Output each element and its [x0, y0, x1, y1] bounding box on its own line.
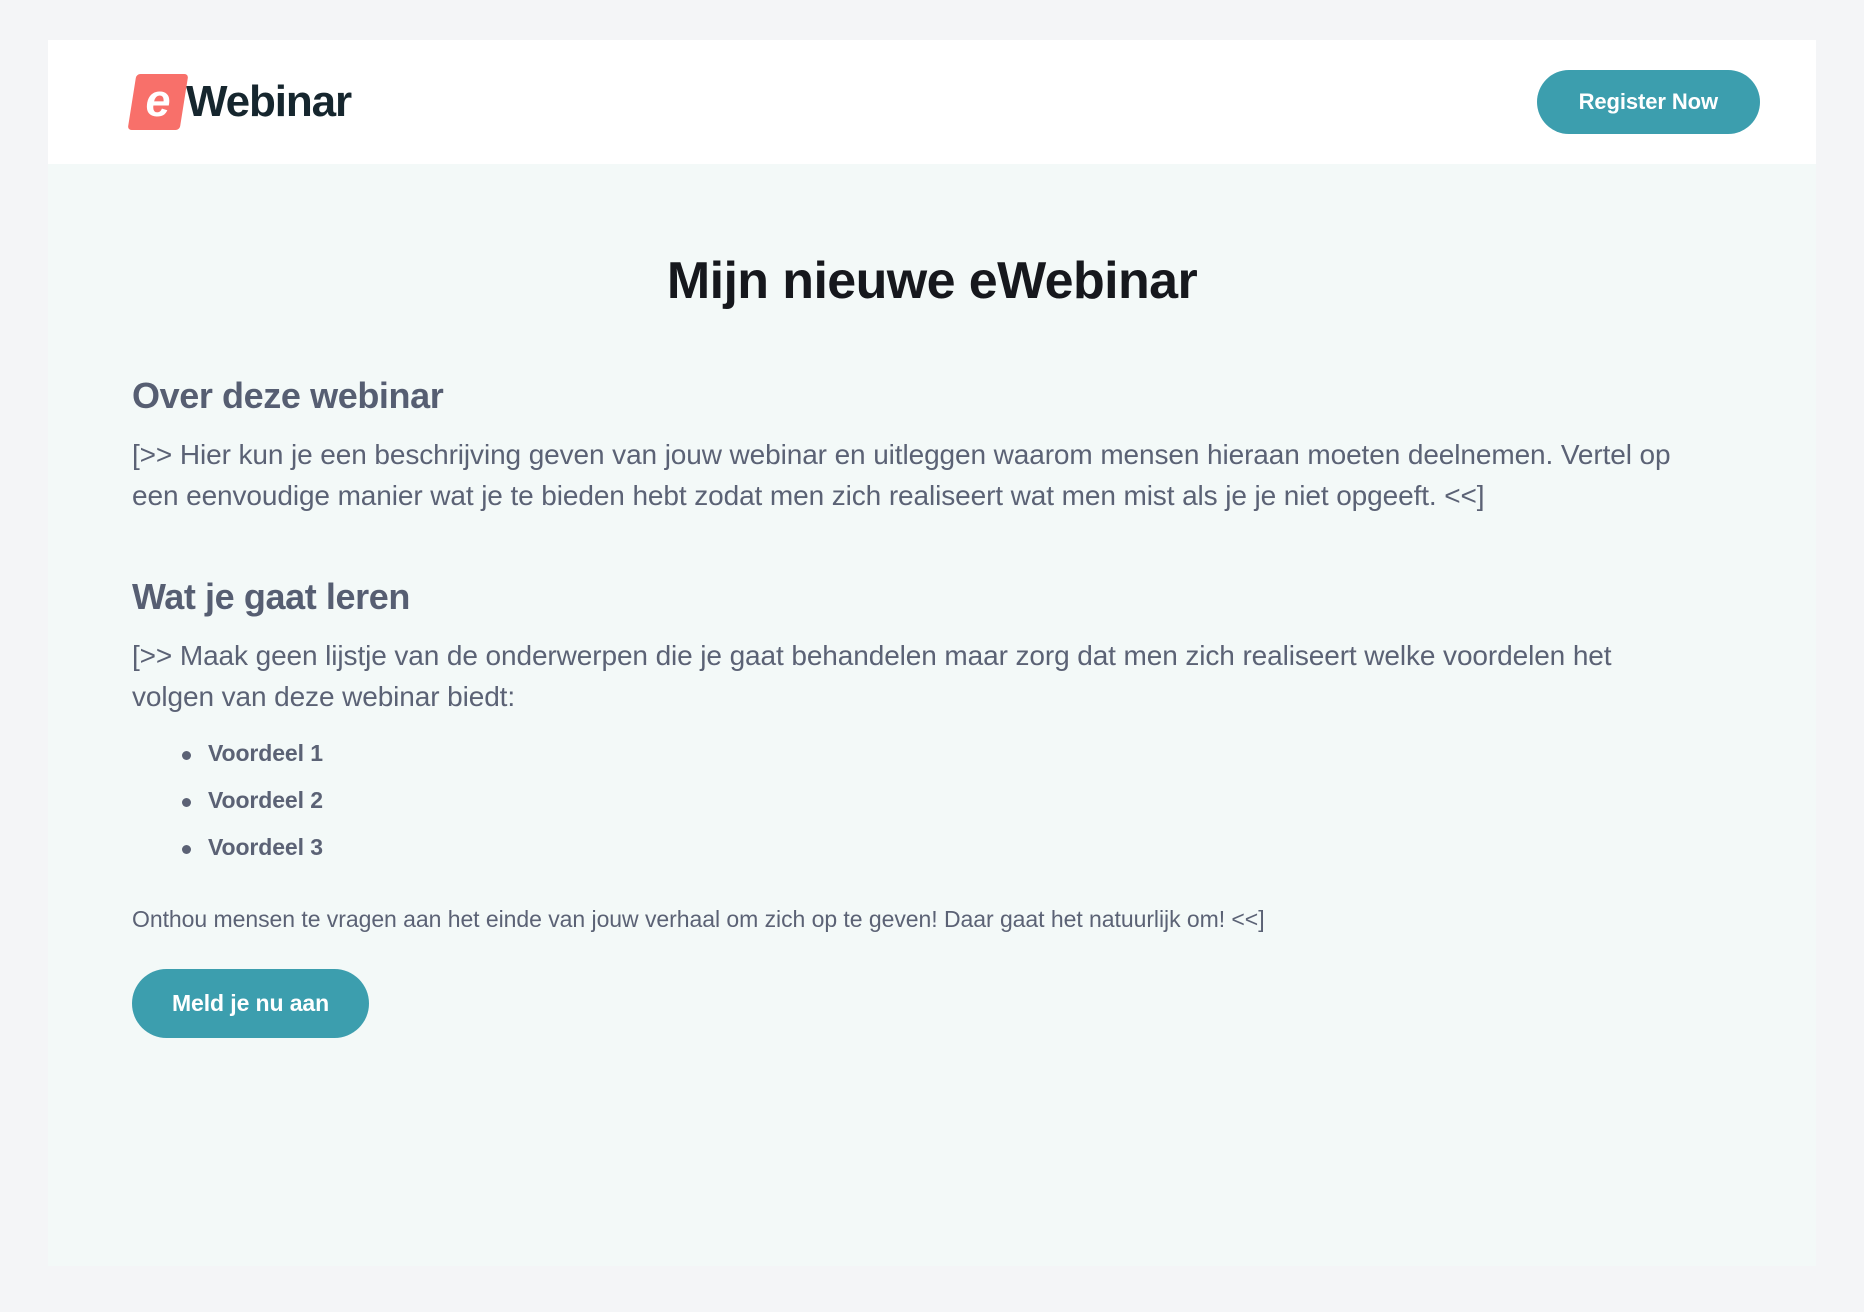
- page-title: Mijn nieuwe eWebinar: [132, 164, 1732, 312]
- page-body: Mijn nieuwe eWebinar Over deze webinar […: [48, 164, 1816, 1038]
- register-now-button[interactable]: Register Now: [1537, 70, 1760, 134]
- ewebinar-logo-mark-icon: e: [132, 74, 184, 130]
- list-item: Voordeel 2: [208, 789, 1732, 836]
- site-header: e Webinar Register Now: [48, 40, 1816, 164]
- list-item: Voordeel 1: [208, 742, 1732, 789]
- section-text-learn: [>> Maak geen lijstje van de onderwerpen…: [132, 636, 1692, 718]
- section-what-you-learn: Wat je gaat leren [>> Maak geen lijstje …: [132, 575, 1732, 1038]
- list-item: Voordeel 3: [208, 836, 1732, 859]
- closing-note: Onthou mensen te vragen aan het einde va…: [132, 903, 1732, 935]
- signup-button[interactable]: Meld je nu aan: [132, 969, 369, 1038]
- section-about-webinar: Over deze webinar [>> Hier kun je een be…: [132, 374, 1732, 517]
- logo-wordmark: Webinar: [186, 80, 351, 124]
- ewebinar-logo[interactable]: e Webinar: [132, 74, 351, 130]
- benefits-list: Voordeel 1 Voordeel 2 Voordeel 3: [132, 742, 1732, 859]
- logo-letter-e: e: [132, 74, 184, 130]
- section-heading-learn: Wat je gaat leren: [132, 575, 1732, 618]
- section-heading-about: Over deze webinar: [132, 374, 1732, 417]
- webinar-landing-card: e Webinar Register Now Mijn nieuwe eWebi…: [48, 40, 1816, 1266]
- section-text-about: [>> Hier kun je een beschrijving geven v…: [132, 435, 1692, 517]
